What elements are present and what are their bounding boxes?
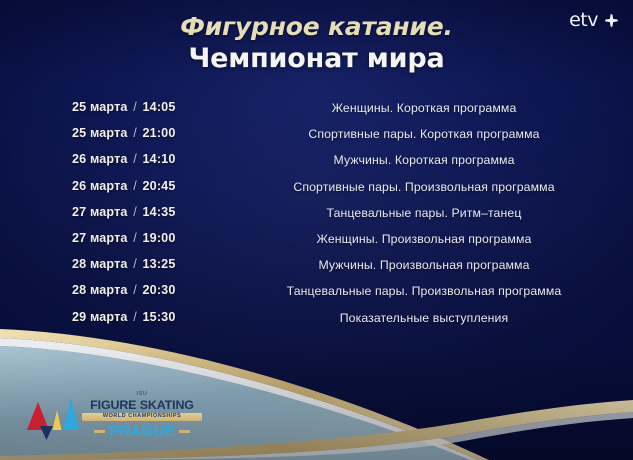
schedule-row-event: Показательные выступления [233, 311, 615, 325]
schedule-row-date: 26 марта [72, 152, 128, 166]
schedule-row-datetime: 28 марта / 13:25 [72, 257, 232, 271]
schedule-row-separator: / [131, 310, 139, 324]
title-line-1: Фигурное катание. [0, 12, 633, 43]
schedule-row-time: 14:05 [143, 100, 176, 114]
schedule-row-separator: / [131, 152, 139, 166]
schedule-row: 27 марта / 14:35Танцевальные пары. Ритм–… [0, 205, 633, 231]
schedule-row-datetime: 26 марта / 14:10 [72, 152, 232, 166]
logo-text-block: ISU FIGURE SKATING WORLD CHAMPIONSHIPS P… [82, 392, 202, 439]
schedule-list: 25 марта / 14:05Женщины. Короткая програ… [0, 100, 633, 336]
triangle-cyan-up-icon [63, 398, 79, 430]
isu-subtitle-label: WORLD CHAMPIONSHIPS [82, 414, 202, 420]
isu-city-label: PRAGUE [109, 424, 174, 439]
schedule-row-date: 25 марта [72, 126, 128, 140]
page-title: Фигурное катание. Чемпионат мира [0, 12, 633, 75]
isu-title-label: FIGURE SKATING [82, 399, 202, 412]
triangle-navy-down-icon [40, 426, 53, 440]
schedule-row-time: 14:10 [143, 152, 176, 166]
schedule-row-separator: / [131, 100, 139, 114]
schedule-row-time: 20:45 [143, 179, 176, 193]
isu-org-label: ISU [82, 392, 202, 398]
triangle-yellow-up-icon [53, 410, 62, 430]
schedule-row-datetime: 27 марта / 19:00 [72, 231, 232, 245]
schedule-row-time: 20:30 [143, 283, 176, 297]
schedule-row: 26 марта / 14:10Мужчины. Короткая програ… [0, 152, 633, 178]
schedule-row-datetime: 29 марта / 15:30 [72, 310, 232, 324]
schedule-row-date: 26 марта [72, 179, 128, 193]
schedule-row: 29 марта / 15:30Показательные выступлени… [0, 310, 633, 336]
schedule-row: 27 марта / 19:00Женщины. Произвольная пр… [0, 231, 633, 257]
schedule-row-date: 28 марта [72, 257, 128, 271]
schedule-row-datetime: 26 марта / 20:45 [72, 179, 232, 193]
schedule-row-datetime: 25 марта / 14:05 [72, 100, 232, 114]
schedule-row-date: 27 марта [72, 231, 128, 245]
schedule-row-event: Танцевальные пары. Произвольная программ… [233, 284, 615, 298]
triangle-red-up-icon [27, 402, 49, 430]
schedule-row-time: 14:35 [143, 205, 176, 219]
schedule-row-date: 27 марта [72, 205, 128, 219]
broadcast-schedule-graphic: etv Фигурное катание. Чемпионат мира 25 … [0, 0, 633, 460]
schedule-row-separator: / [131, 205, 139, 219]
schedule-row-separator: / [131, 179, 139, 193]
schedule-row-event: Мужчины. Короткая программа [233, 153, 615, 167]
schedule-row-separator: / [131, 283, 139, 297]
logo-marks [26, 394, 80, 442]
schedule-row-event: Мужчины. Произвольная программа [233, 258, 615, 272]
dash-left-icon [94, 430, 105, 433]
schedule-row-datetime: 25 марта / 21:00 [72, 126, 232, 140]
isu-subtitle-band: WORLD CHAMPIONSHIPS [82, 413, 202, 421]
schedule-row-separator: / [131, 126, 139, 140]
schedule-row-date: 25 марта [72, 100, 128, 114]
title-line-2: Чемпионат мира [0, 43, 633, 75]
dash-right-icon [179, 430, 190, 433]
schedule-row-time: 15:30 [143, 310, 176, 324]
schedule-row: 25 марта / 21:00Спортивные пары. Коротка… [0, 126, 633, 152]
isu-event-logo: ISU FIGURE SKATING WORLD CHAMPIONSHIPS P… [26, 392, 202, 448]
schedule-row-date: 29 марта [72, 310, 128, 324]
schedule-row-event: Спортивные пары. Короткая программа [233, 127, 615, 141]
schedule-row-event: Женщины. Произвольная программа [233, 232, 615, 246]
schedule-row-datetime: 27 марта / 14:35 [72, 205, 232, 219]
schedule-row-time: 19:00 [143, 231, 176, 245]
schedule-row: 25 марта / 14:05Женщины. Короткая програ… [0, 100, 633, 126]
schedule-row: 28 марта / 20:30Танцевальные пары. Произ… [0, 283, 633, 309]
schedule-row-event: Танцевальные пары. Ритм–танец [233, 206, 615, 220]
isu-city-row: PRAGUE [82, 424, 202, 439]
schedule-row: 26 марта / 20:45Спортивные пары. Произво… [0, 179, 633, 205]
schedule-row: 28 марта / 13:25Мужчины. Произвольная пр… [0, 257, 633, 283]
schedule-row-datetime: 28 марта / 20:30 [72, 283, 232, 297]
schedule-row-event: Женщины. Короткая программа [233, 101, 615, 115]
schedule-row-date: 28 марта [72, 283, 128, 297]
schedule-row-event: Спортивные пары. Произвольная программа [233, 180, 615, 194]
schedule-row-time: 13:25 [143, 257, 176, 271]
schedule-row-time: 21:00 [143, 126, 176, 140]
schedule-row-separator: / [131, 231, 139, 245]
schedule-row-separator: / [131, 257, 139, 271]
